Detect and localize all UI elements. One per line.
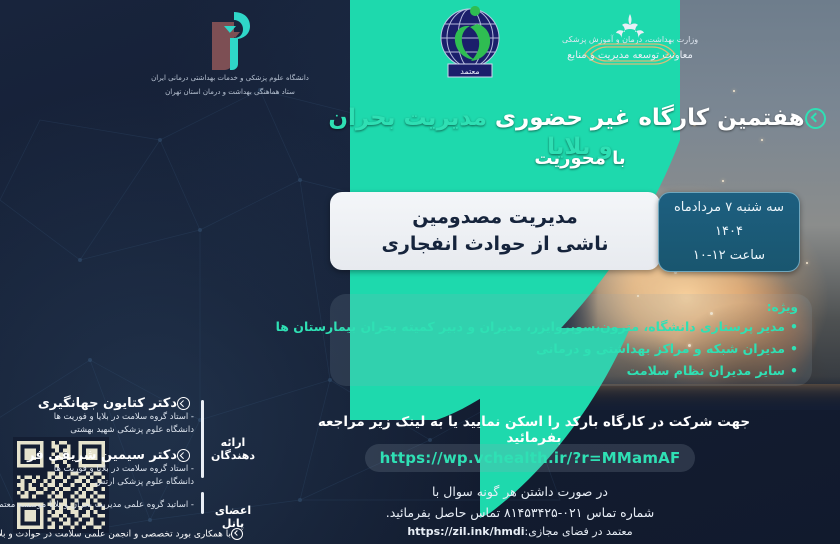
logo-disaster-health: معتمد <box>400 6 540 80</box>
logo-row: دانشگاه علوم پزشکی و خدمات بهداشتی درمان… <box>0 4 840 104</box>
topic-box: مدیریت مصدومین ناشی از حوادث انفجاری <box>330 192 660 270</box>
ministry-emblem-icon: وزارت بهداشت، درمان و آموزش پزشکی معاونت… <box>555 10 705 74</box>
svg-text:معاونت توسعه مدیریت و منابع: معاونت توسعه مدیریت و منابع <box>567 50 693 61</box>
svg-text:وزارت بهداشت، درمان و آموزش پز: وزارت بهداشت، درمان و آموزش پزشکی <box>562 34 698 44</box>
contact-line-2: شماره تماس ۰۲۱-۸۱۴۵۳۴۲۵ تماس حاصل بفرمائ… <box>310 503 730 524</box>
poster-root: دانشگاه علوم پزشکی و خدمات بهداشتی درمان… <box>0 0 840 544</box>
bullet-icon: • <box>790 360 798 382</box>
virtual-space-line: معتمد در فضای مجازی:https://zil.ink/hmdi <box>310 523 730 541</box>
cooperation-line: با همکاری بورد تخصصی و انجمن علمی سلامت … <box>2 528 246 540</box>
presenter-2: دکتر سیمین شریفی فر - استاد گروه سلامت د… <box>4 448 194 489</box>
list-item: •مدیران شبکه و مراکز بهداشتی و درمانی <box>340 338 798 360</box>
list-item: •مدیر پرستاری دانشگاه، مترون،سوپروایزر، … <box>340 316 798 338</box>
panel-label: اعضای پانل <box>210 504 256 530</box>
bullet-icon: • <box>790 316 798 338</box>
topic-line-2: ناشی از حوادث انفجاری <box>382 231 609 258</box>
date-box: سه شنبه ۷ مردادماه ۱۴۰۴ ساعت ۱۲-۱۰ <box>658 192 800 272</box>
topic-line-1: مدیریت مصدومین <box>382 204 609 231</box>
panel-members-text: - اساتید گروه علمی مدیریت بحران و بلایا … <box>2 500 194 510</box>
date-line-2: ساعت ۱۲-۱۰ <box>693 244 765 268</box>
divider-panel <box>201 492 204 514</box>
virtual-space-label: معتمد در فضای مجازی: <box>525 525 633 538</box>
logo-ministry-of-health: وزارت بهداشت، درمان و آموزش پزشکی معاونت… <box>535 10 725 74</box>
cooperation-text: با همکاری بورد تخصصی و انجمن علمی سلامت … <box>0 530 231 540</box>
audience-item-1: مدیر پرستاری دانشگاه، مترون،سوپروایزر، م… <box>276 319 785 334</box>
headline-prefix: هفتمین کارگاه غیر حضوری <box>487 105 805 131</box>
presenter-2-name: دکتر سیمین شریفی فر <box>27 448 177 463</box>
chevron-left-icon <box>177 397 190 410</box>
contact-line-1: در صورت داشتن هر گونه سوال با <box>310 482 730 503</box>
audience-item-2: مدیران شبکه و مراکز بهداشتی و درمانی <box>536 341 785 356</box>
list-item: •سایر مدیران نظام سلامت <box>340 360 798 382</box>
chevron-left-icon <box>177 449 190 462</box>
date-line-1: سه شنبه ۷ مردادماه ۱۴۰۴ <box>659 196 799 244</box>
registration-instruction: جهت شرکت در کارگاه بارکد را اسکن نمایید … <box>314 414 754 446</box>
audience-title: ویژه: <box>340 300 798 314</box>
logo-iran-university-caption-1: دانشگاه علوم پزشکی و خدمات بهداشتی درمان… <box>140 73 320 84</box>
chevron-left-icon <box>231 528 243 540</box>
presenter-1-name: دکتر کتایون جهانگیری <box>38 396 177 411</box>
bullet-icon: • <box>790 338 798 360</box>
logo-iran-university: دانشگاه علوم پزشکی و خدمات بهداشتی درمان… <box>140 8 320 97</box>
presenter-2-detail-2: دانشگاه علوم پزشکی ارتش <box>4 476 194 489</box>
presenter-1-detail-2: دانشگاه علوم پزشکی شهید بهشتی <box>4 424 194 437</box>
presenter-2-detail-1: - استاد گروه سلامت در بلایا و فوریت ها <box>4 463 194 476</box>
globe-person-icon: معتمد <box>434 6 506 80</box>
presenters-label: ارائه دهندگان <box>210 436 256 462</box>
registration-url[interactable]: https://wp.vchealth.ir/?r=MMamAF <box>380 449 681 467</box>
virtual-space-url[interactable]: https://zil.ink/hmdi <box>407 523 524 541</box>
audience-list: •مدیر پرستاری دانشگاه، مترون،سوپروایزر، … <box>340 316 798 382</box>
iums-emblem-icon <box>202 8 258 70</box>
svg-text:معتمد: معتمد <box>460 67 479 76</box>
speakers-panel: ارائه دهندگان اعضای پانل دکتر کتایون جها… <box>0 392 256 544</box>
presenter-1: دکتر کتایون جهانگیری - استاد گروه سلامت … <box>4 396 194 437</box>
logo-iran-university-caption-2: ستاد هماهنگی بهداشت و درمان استان تهران <box>140 87 320 98</box>
presenter-1-detail-1: - استاد گروه سلامت در بلایا و فوریت ها <box>4 411 194 424</box>
audience-item-3: سایر مدیران نظام سلامت <box>627 363 785 378</box>
audience-box: ویژه: •مدیر پرستاری دانشگاه، مترون،سوپرو… <box>330 294 812 386</box>
contact-block: در صورت داشتن هر گونه سوال با شماره تماس… <box>310 482 730 541</box>
divider-presenters <box>201 400 204 478</box>
headline-subtitle: با محوریت <box>320 148 840 169</box>
chevron-left-icon <box>805 108 826 129</box>
registration-url-pill[interactable]: https://wp.vchealth.ir/?r=MMamAF <box>365 444 695 472</box>
